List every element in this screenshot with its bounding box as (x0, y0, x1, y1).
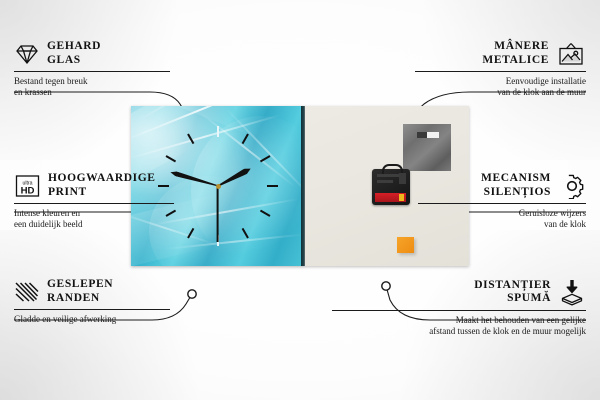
callout-gehard-glas: GEHARD GLAS Bestand tegen breuk en krass… (14, 40, 174, 98)
callout-mecanism-silentios: MECANISM SILENȚIOS Geruisloze wijzers va… (414, 172, 586, 230)
callout-description: Gladde en veilige afwerking (14, 314, 174, 325)
callout-hoogwaardige-print: ultra HD HOOGWAARDIGE PRINT Intense kleu… (14, 172, 179, 230)
clock-center-cap (216, 184, 221, 189)
callout-title: GEHARD GLAS (47, 40, 101, 67)
picture-frame-icon (556, 41, 586, 67)
callout-title: MECANISM SILENȚIOS (481, 172, 551, 199)
diamond-icon (14, 42, 40, 66)
callout-description: Intense kleuren en een duidelijk beeld (14, 208, 179, 230)
callout-manere-metalice: MÂNERE METALICE Eenvoudige installatie v… (411, 40, 586, 98)
callout-title: DISTANȚIER SPUMĂ (474, 279, 551, 306)
hanger-plate-icon (403, 124, 451, 171)
callout-distantier-spuma: DISTANȚIER SPUMĂ Maakt het behouden van … (328, 278, 586, 337)
svg-text:HD: HD (21, 185, 35, 196)
clock-second-hand (217, 186, 219, 242)
infographic-canvas: GEHARD GLAS Bestand tegen breuk en krass… (0, 0, 600, 400)
callout-description: Maakt het behouden van een gelijke afsta… (328, 315, 586, 337)
gear-icon (558, 173, 586, 199)
callout-title: MÂNERE METALICE (482, 40, 549, 67)
callout-title: HOOGWAARDIGE PRINT (48, 172, 156, 199)
spacer-layer-icon (558, 278, 586, 306)
connector-dot-geslepen-randen (188, 290, 196, 298)
callout-geslepen-randen: GESLEPEN RANDEN Gladde en veilige afwerk… (14, 278, 174, 325)
battery (375, 193, 406, 202)
foam-spacer (397, 237, 414, 253)
callout-description: Eenvoudige installatie van de klok aan d… (411, 76, 586, 98)
beveled-edges-icon (14, 280, 40, 304)
callout-description: Geruisloze wijzers van de klok (414, 208, 586, 230)
ultra-hd-icon: ultra HD (14, 174, 41, 198)
callout-title: GESLEPEN RANDEN (47, 278, 113, 305)
clock-mechanism (372, 169, 410, 205)
callout-description: Bestand tegen breuk en krassen (14, 76, 174, 98)
